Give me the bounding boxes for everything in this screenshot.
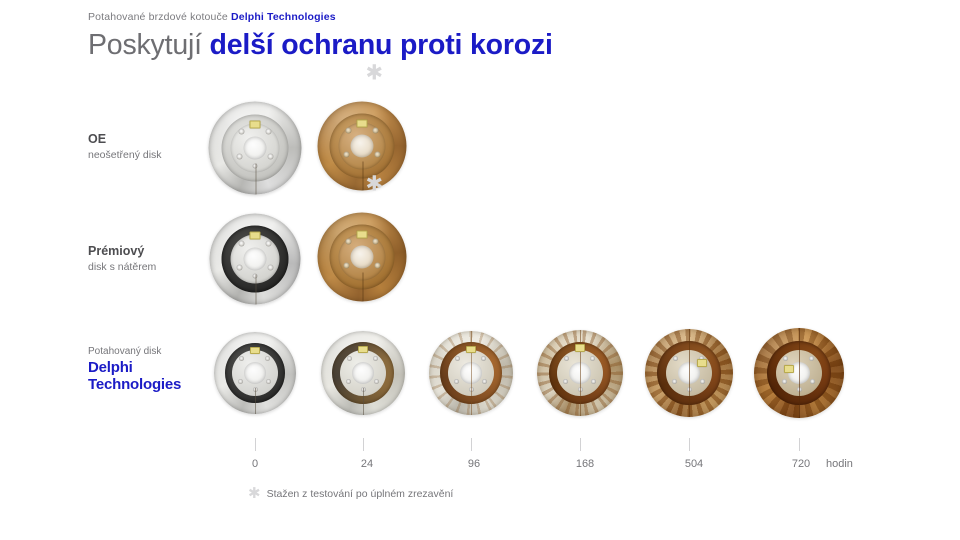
disc-sticker-tag <box>357 231 368 239</box>
disc-lug-hole <box>672 379 677 384</box>
disc-lug-hole <box>454 379 459 384</box>
disc-oe-24h: ✱ <box>318 102 407 191</box>
disc-lug-hole <box>374 379 379 384</box>
brake-disc-graphic <box>318 102 407 191</box>
disc-oe-0h <box>209 102 302 195</box>
disc-seam <box>580 330 581 416</box>
disc-lug-hole <box>239 129 245 135</box>
disc-lug-hole <box>347 356 352 361</box>
disc-seam <box>363 273 364 302</box>
page-title: Poskytují delší ochranu proti korozi <box>88 28 928 62</box>
disc-lug-hole <box>373 239 379 245</box>
row-label-oe: OE neošetřený disk <box>88 131 210 163</box>
disc-sticker-tag <box>357 120 368 128</box>
eyebrow: Potahované brzdové kotouče Delphi Techno… <box>88 10 928 24</box>
disc-lug-hole <box>238 379 243 384</box>
disc-lug-hole <box>346 379 351 384</box>
disc-seam <box>689 329 690 417</box>
disc-seam <box>363 388 364 415</box>
disc-lug-hole <box>239 241 245 247</box>
brake-disc-graphic <box>209 102 302 195</box>
disc-lug-hole <box>782 379 787 384</box>
disc-lug-hole <box>265 356 270 361</box>
disc-sticker-tag <box>358 346 368 353</box>
disc-lug-hole <box>239 356 244 361</box>
disc-lug-hole <box>810 379 815 384</box>
brake-disc-graphic <box>214 332 296 414</box>
row-label-delphi: Potahovaný disk Delphi Technologies <box>88 345 210 393</box>
row-label-oe-title: OE <box>88 131 210 147</box>
disc-center-bore <box>352 362 374 384</box>
axis-tick <box>799 438 800 451</box>
disc-sticker-tag <box>784 365 794 373</box>
disc-sticker-tag <box>697 359 707 367</box>
brake-disc-graphic <box>429 331 513 415</box>
row-label-delphi-brand-1: Delphi <box>88 359 210 376</box>
disc-lug-hole <box>373 128 379 134</box>
axis-unit-label: hodin <box>826 458 853 470</box>
disc-center-bore <box>351 246 374 269</box>
brake-disc-graphic <box>537 330 623 416</box>
disc-delphi-96h <box>429 331 513 415</box>
axis-tick <box>689 438 690 451</box>
row-label-premium-title: Prémiový <box>88 243 210 259</box>
disc-lug-hole <box>455 356 460 361</box>
disc-delphi-504h <box>645 329 733 417</box>
disc-lug-hole <box>564 356 569 361</box>
axis-tick-label: 96 <box>468 458 480 470</box>
brake-disc-graphic <box>321 331 405 415</box>
disc-center-bore <box>244 362 266 384</box>
disc-premium-0h <box>210 214 301 305</box>
disc-lug-hole <box>673 356 678 361</box>
disc-lug-hole <box>266 129 272 135</box>
axis-tick <box>471 438 472 451</box>
axis-tick <box>255 438 256 451</box>
disc-lug-hole <box>563 379 568 384</box>
disc-sticker-tag <box>575 344 585 352</box>
disc-seam <box>255 388 256 414</box>
infographic-canvas: Potahované brzdové kotouče Delphi Techno… <box>0 0 960 540</box>
disc-lug-hole <box>237 154 243 160</box>
axis-tick <box>580 438 581 451</box>
disc-seam <box>256 275 257 305</box>
disc-seam <box>363 162 364 191</box>
footnote: ✱ Stažen z testování po úplném zrezavění <box>248 486 453 501</box>
asterisk-icon: ✱ <box>248 486 261 501</box>
disc-lug-hole <box>481 356 486 361</box>
row-label-premium-subtitle: disk s nátěrem <box>88 260 210 275</box>
disc-lug-hole <box>268 154 274 160</box>
axis-tick-label: 720 <box>792 458 810 470</box>
disc-delphi-0h <box>214 332 296 414</box>
disc-lug-hole <box>783 356 788 361</box>
disc-sticker-tag <box>250 232 261 240</box>
disc-lug-hole <box>344 263 350 269</box>
axis-tick-label: 168 <box>576 458 594 470</box>
row-label-oe-subtitle: neošetřený disk <box>88 148 210 163</box>
axis-tick <box>363 438 364 451</box>
disc-delphi-720h <box>754 328 844 418</box>
brake-disc-graphic <box>754 328 844 418</box>
axis-tick-label: 504 <box>685 458 703 470</box>
disc-lug-hole <box>375 263 381 269</box>
disc-lug-hole <box>482 379 487 384</box>
disc-lug-hole <box>809 356 814 361</box>
disc-sticker-tag <box>250 121 261 129</box>
disc-lug-hole <box>700 379 705 384</box>
brake-disc-graphic <box>645 329 733 417</box>
timeline-axis: 0 24 96 168 504 720 <box>0 438 960 483</box>
headline-light: Poskytují <box>88 29 210 61</box>
disc-lug-hole <box>346 239 352 245</box>
disc-premium-24h: ✱ <box>318 213 407 302</box>
disc-lug-hole <box>268 265 274 271</box>
disc-center-bore <box>244 137 267 160</box>
axis-tick-label: 24 <box>361 458 373 470</box>
eyebrow-brand: Delphi Technologies <box>231 11 336 23</box>
axis-tick-label: 0 <box>252 458 258 470</box>
disc-delphi-24h <box>321 331 405 415</box>
footnote-text: Stažen z testování po úplném zrezavění <box>267 488 454 500</box>
header: Potahované brzdové kotouče Delphi Techno… <box>88 10 928 62</box>
eyebrow-prefix: Potahované brzdové kotouče <box>88 11 231 23</box>
disc-sticker-tag <box>466 346 476 353</box>
disc-seam <box>471 331 472 415</box>
disc-lug-hole <box>373 356 378 361</box>
disc-delphi-168h <box>537 330 623 416</box>
asterisk-icon: ✱ <box>366 63 384 84</box>
disc-lug-hole <box>266 379 271 384</box>
row-label-premium: Prémiový disk s nátěrem <box>88 243 210 275</box>
disc-center-bore <box>244 248 267 271</box>
disc-lug-hole <box>344 152 350 158</box>
brake-disc-graphic <box>210 214 301 305</box>
headline-strong: delší ochranu proti korozi <box>210 29 553 61</box>
disc-lug-hole <box>590 356 595 361</box>
disc-seam <box>256 164 257 195</box>
asterisk-icon: ✱ <box>366 174 384 195</box>
disc-lug-hole <box>591 379 596 384</box>
brake-disc-graphic <box>318 213 407 302</box>
disc-seam <box>799 328 800 418</box>
row-label-delphi-brand-2: Technologies <box>88 376 210 393</box>
disc-center-bore <box>351 135 374 158</box>
disc-lug-hole <box>346 128 352 134</box>
disc-lug-hole <box>375 152 381 158</box>
row-label-delphi-pre: Potahovaný disk <box>88 345 210 359</box>
disc-sticker-tag <box>250 347 260 354</box>
disc-lug-hole <box>237 265 243 271</box>
disc-lug-hole <box>266 241 272 247</box>
